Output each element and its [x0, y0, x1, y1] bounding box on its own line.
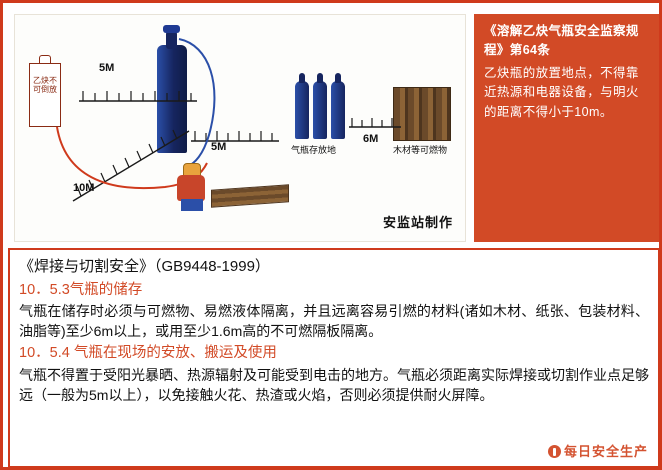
storage-cylinder-1-icon — [295, 81, 309, 139]
welder-body-icon — [177, 175, 205, 201]
torch-hose-icon — [165, 35, 235, 175]
regulation-callout: 《溶解乙炔气瓶安全监察规程》第64条 乙炔瓶的放置地点，不得靠近热源和电器设备，… — [474, 14, 659, 242]
standard-title: 《焊接与切割安全》（GB9448-1999） — [19, 256, 649, 279]
storage-cylinder-3-neck-icon — [335, 73, 341, 83]
watermark: 每日安全生产 — [548, 441, 648, 460]
regulation-title: 《溶解乙炔气瓶安全监察规程》第64条 — [484, 22, 649, 61]
safety-illustration: 乙炔不可倒放 — [14, 14, 466, 242]
label-storage-area: 气瓶存放地 — [291, 143, 336, 156]
watermark-text: 每日安全生产 — [564, 444, 648, 459]
ruler-6m — [349, 113, 403, 133]
safety-badge-icon — [548, 445, 561, 458]
large-cylinder-valve-icon — [163, 25, 180, 33]
section-1-text: 气瓶在储存时必须与可燃物、易燃液体隔离，并且远离容易引燃的材料(诸如木材、纸张、… — [19, 302, 649, 342]
label-combustibles: 木材等可燃物 — [393, 143, 447, 156]
storage-cylinder-3-icon — [331, 81, 345, 139]
section-1-number: 10．5.3气瓶的储存 — [19, 280, 649, 302]
storage-cylinder-2-neck-icon — [317, 73, 323, 83]
storage-cylinder-2-icon — [313, 81, 327, 139]
label-6m: 6M — [363, 133, 378, 145]
section-2-text: 气瓶不得置于受阳光暴晒、热源辐射及可能受到电击的地方。气瓶必须距离实际焊接或切割… — [19, 366, 649, 406]
top-section: 乙炔不可倒放 — [8, 8, 660, 244]
regulation-text: 乙炔瓶的放置地点，不得靠近热源和电器设备，与明火的距离不得小于10m。 — [484, 64, 649, 122]
label-5m-top: 5M — [99, 62, 114, 74]
section-2-number: 10．5.4 气瓶在现场的安放、搬运及使用 — [19, 343, 649, 365]
page-frame: 乙炔不可倒放 — [0, 0, 662, 470]
standard-text-panel: 《焊接与切割安全》（GB9448-1999） 10．5.3气瓶的储存 气瓶在储存… — [8, 248, 660, 468]
producer-stamp: 安监站制作 — [383, 212, 453, 231]
storage-cylinder-1-neck-icon — [299, 73, 305, 83]
welder-legs-icon — [181, 199, 203, 211]
